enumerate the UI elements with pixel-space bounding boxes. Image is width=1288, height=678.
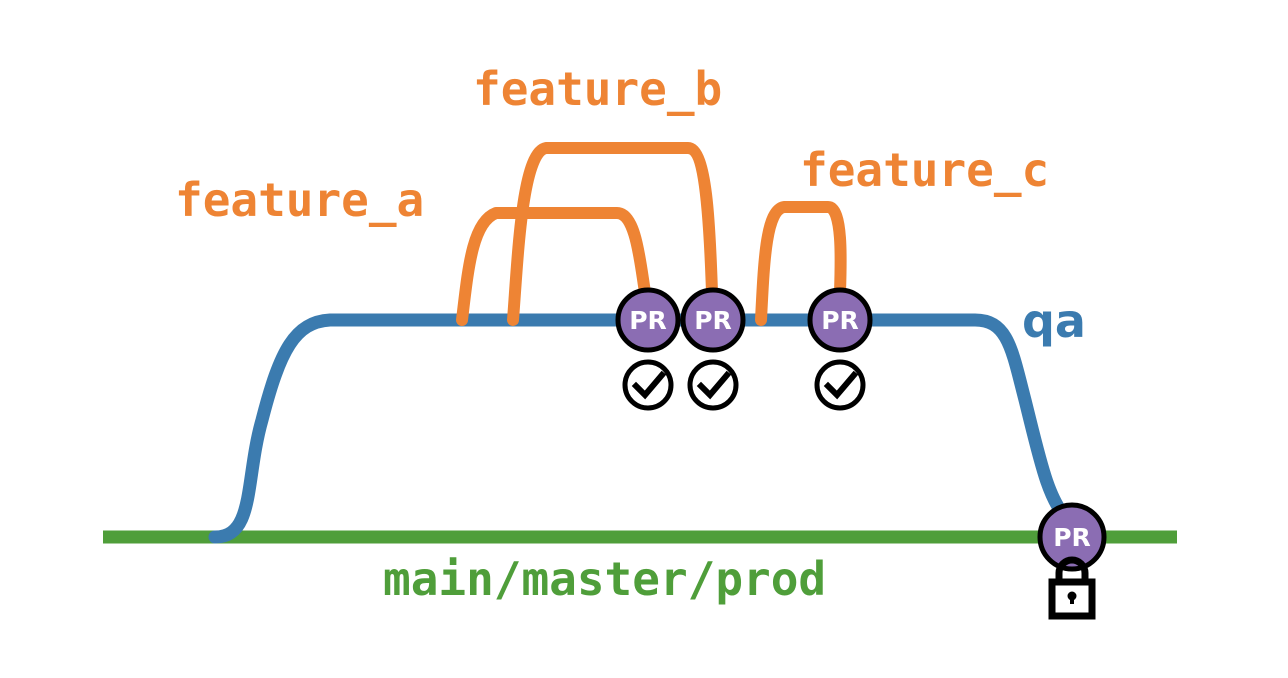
branch-label-main: main/master/prod (383, 552, 826, 606)
branch-label-qa: qa (1022, 294, 1086, 348)
qa-branch-line (215, 320, 1068, 537)
lock-keyhole-stem (1070, 596, 1074, 604)
check-circle-outline (625, 362, 671, 408)
check-circle-icon[interactable] (625, 362, 671, 408)
pr-node-label: PR (1053, 523, 1091, 552)
branch-label-feature-c: feature_c (800, 143, 1049, 197)
git-flow-canvas: PR PR PR PR (0, 0, 1288, 678)
feature-b-branch-line (513, 148, 712, 320)
git-branching-diagram: PR PR PR PR (0, 0, 1288, 678)
branch-label-feature-a: feature_a (175, 173, 424, 227)
pr-node-label: PR (694, 306, 732, 335)
check-circle-icon[interactable] (817, 362, 863, 408)
branch-label-feature-b: feature_b (473, 62, 722, 116)
check-circle-icon[interactable] (690, 362, 736, 408)
pr-node-label: PR (629, 306, 667, 335)
feature-a-branch-line (462, 213, 645, 320)
check-circle-outline (690, 362, 736, 408)
pr-node-3[interactable]: PR (810, 290, 870, 350)
pr-node-1[interactable]: PR (618, 290, 678, 350)
pr-node-2[interactable]: PR (683, 290, 743, 350)
check-circle-outline (817, 362, 863, 408)
pr-node-label: PR (821, 306, 859, 335)
